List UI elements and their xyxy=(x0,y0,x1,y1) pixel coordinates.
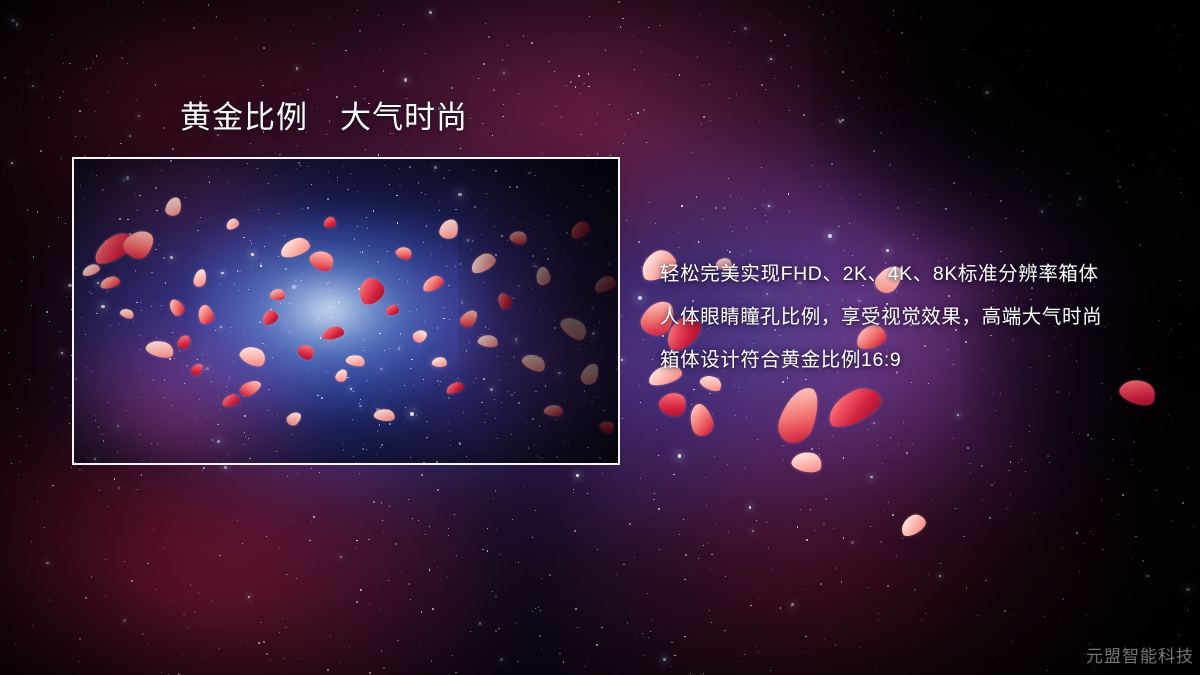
watermark: 元盟智能科技 xyxy=(1086,642,1194,667)
frame-vignette xyxy=(74,159,618,463)
body-copy-line-3: 箱体设计符合黄金比例16:9 xyxy=(660,339,1180,382)
body-copy-line-1: 轻松完美实现FHD、2K、4K、8K标准分辨率箱体 xyxy=(660,253,1180,296)
slide-canvas: 黄金比例 大气时尚 轻松完美实现FHD、2K、4K、8K标准分辨率箱体 人体眼睛… xyxy=(0,0,1200,675)
page-title: 黄金比例 大气时尚 xyxy=(180,101,468,136)
framed-image xyxy=(72,157,620,465)
body-copy-line-2: 人体眼睛瞳孔比例，享受视觉效果，高端大气时尚 xyxy=(660,296,1180,339)
body-copy: 轻松完美实现FHD、2K、4K、8K标准分辨率箱体 人体眼睛瞳孔比例，享受视觉效… xyxy=(660,253,1180,382)
framed-image-content xyxy=(74,159,618,463)
